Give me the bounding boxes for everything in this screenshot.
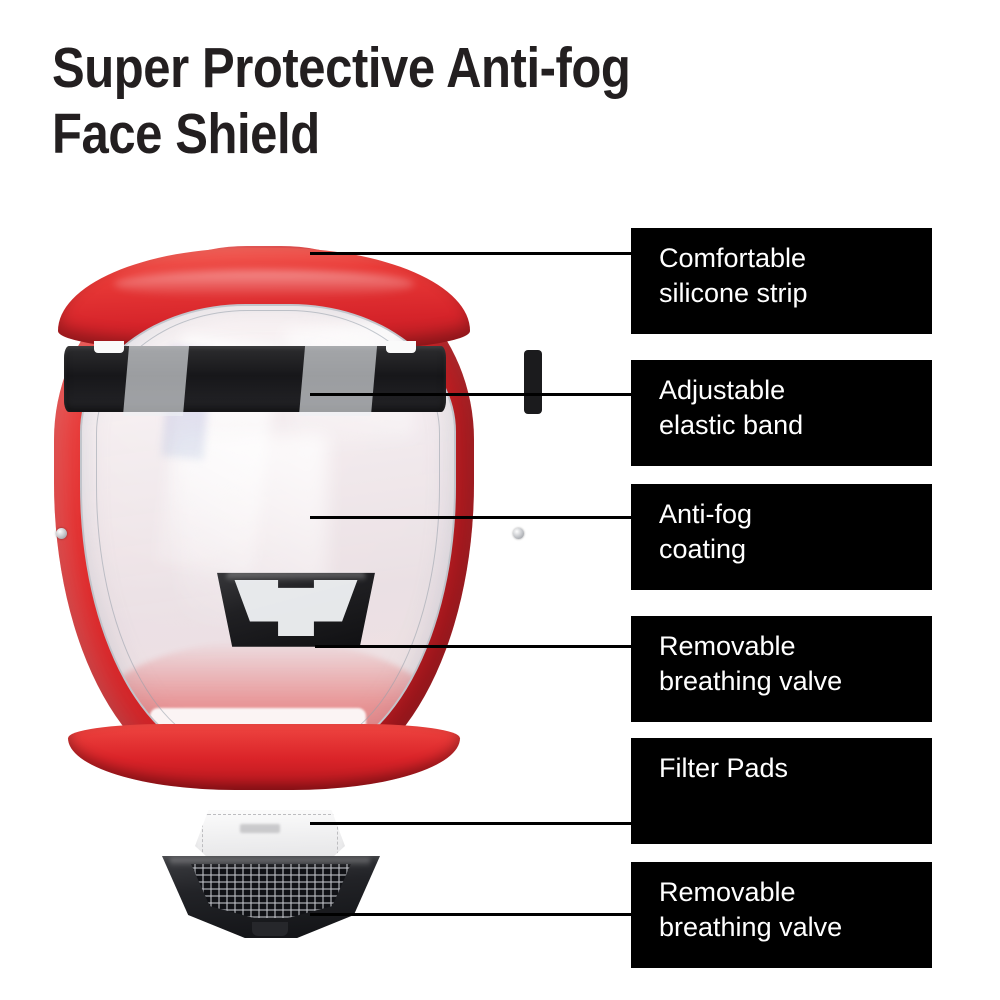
leader-line-filter-pads (310, 822, 631, 825)
leader-line-removable-breathing-valve-2 (310, 913, 631, 916)
black-elastic-band (64, 346, 446, 412)
leader-line-anti-fog-coating (310, 516, 631, 519)
frame-rivet-left (56, 528, 67, 539)
brow-highlight (114, 270, 414, 298)
breathing-valve-holder (212, 568, 380, 650)
filter-pad-print-mark (240, 824, 280, 833)
callout-adjustable-elastic-band[interactable]: Adjustable elastic band (631, 360, 932, 466)
valve-cover-tab (252, 922, 288, 936)
leader-line-adjustable-elastic-band (310, 393, 631, 396)
product-infographic: Super Protective Anti-fog Face Shield (0, 0, 1000, 1000)
leader-line-removable-breathing-valve (315, 645, 631, 648)
band-lens-overlay-left (123, 346, 189, 416)
valve-holder-highlight (226, 572, 366, 582)
band-notch-right (386, 341, 416, 353)
red-frame-chin (68, 724, 460, 790)
leader-line-comfortable-silicone-strip (310, 252, 631, 255)
callout-anti-fog-coating[interactable]: Anti-fog coating (631, 484, 932, 590)
callout-comfortable-silicone-strip[interactable]: Comfortable silicone strip (631, 228, 932, 334)
product-image (40, 238, 540, 958)
elastic-band-side-tab (524, 350, 542, 414)
band-lens-overlay-right (299, 346, 377, 416)
callout-removable-breathing-valve[interactable]: Removable breathing valve (631, 616, 932, 722)
page-title: Super Protective Anti-fog Face Shield (52, 36, 740, 167)
valve-cover-highlight (170, 858, 370, 867)
callout-filter-pads[interactable]: Filter Pads (631, 738, 932, 844)
frame-rivet-right (513, 528, 524, 539)
callout-removable-breathing-valve-2[interactable]: Removable breathing valve (631, 862, 932, 968)
band-notch-left (94, 341, 124, 353)
